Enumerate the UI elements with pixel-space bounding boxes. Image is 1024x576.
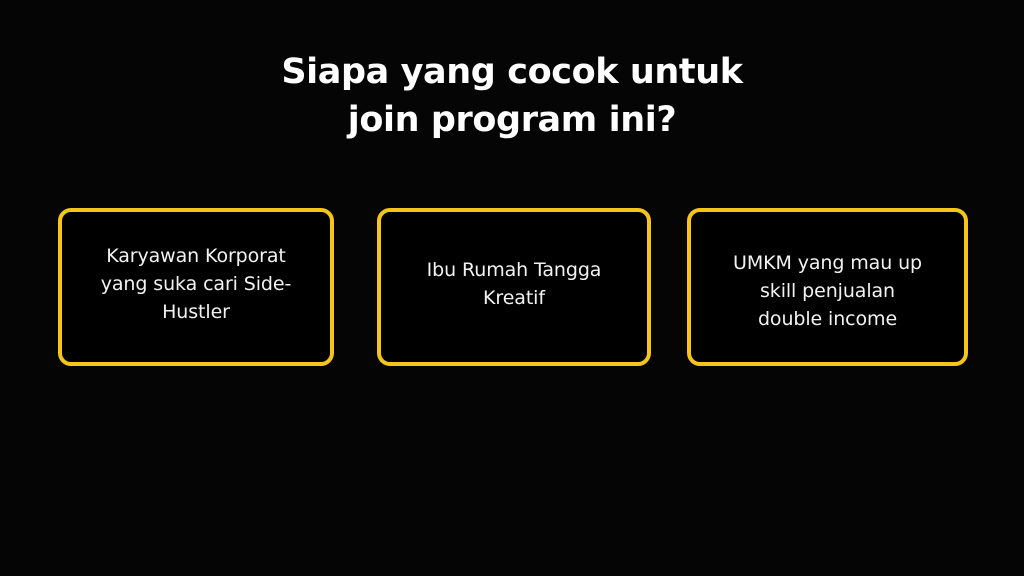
audience-card-line: Ibu Rumah Tangga — [427, 259, 602, 281]
audience-card-line: yang suka cari Side- — [101, 273, 292, 295]
audience-card-umkm: UMKM yang mau up skill penjualan double … — [687, 208, 968, 366]
page-title-line-1: Siapa yang cocok untuk — [0, 48, 1024, 96]
audience-card-ibu-rumah-tangga: Ibu Rumah Tangga Kreatif — [377, 208, 651, 366]
audience-card-line: skill penjualan — [760, 280, 895, 302]
page-title: Siapa yang cocok untuk join program ini? — [0, 48, 1024, 144]
audience-card-text: Karyawan Korporat yang suka cari Side- H… — [62, 242, 330, 326]
audience-card-text: Ibu Rumah Tangga Kreatif — [381, 256, 647, 312]
audience-card-line: double income — [758, 308, 897, 330]
audience-card-line: Karyawan Korporat — [106, 245, 286, 267]
audience-card-line: UMKM yang mau up — [733, 252, 922, 274]
audience-cards-row: Karyawan Korporat yang suka cari Side- H… — [58, 208, 968, 366]
slide-canvas: Siapa yang cocok untuk join program ini?… — [0, 0, 1024, 576]
audience-card-karyawan-korporat: Karyawan Korporat yang suka cari Side- H… — [58, 208, 334, 366]
audience-card-text: UMKM yang mau up skill penjualan double … — [691, 249, 964, 333]
audience-card-line: Hustler — [162, 301, 230, 323]
page-title-line-2: join program ini? — [0, 96, 1024, 144]
audience-card-line: Kreatif — [483, 287, 545, 309]
